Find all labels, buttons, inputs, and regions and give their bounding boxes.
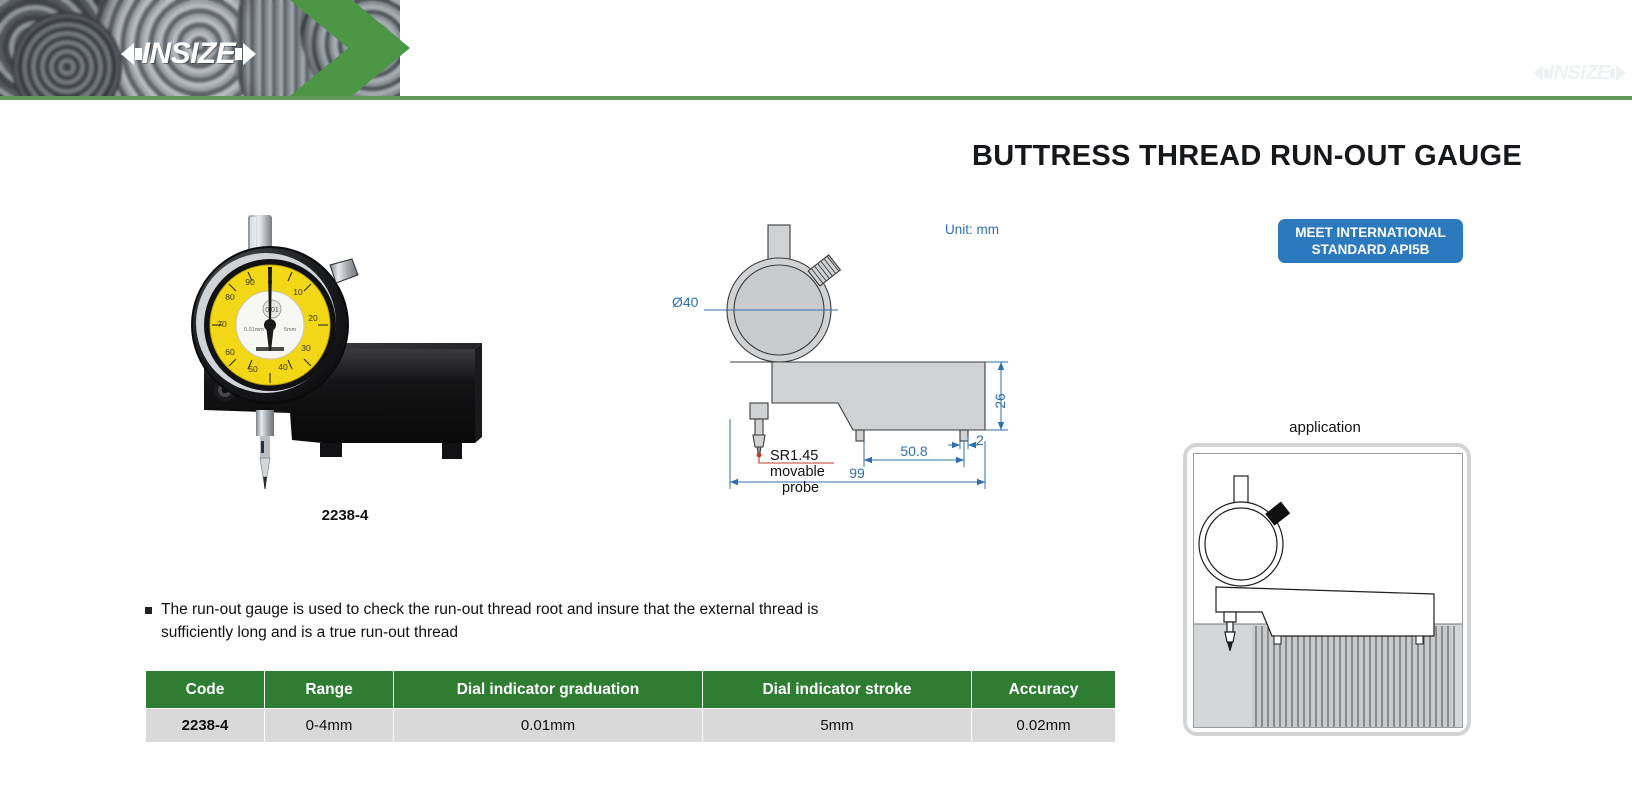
svg-text:40: 40 bbox=[278, 362, 288, 372]
svg-text:30: 30 bbox=[301, 343, 311, 353]
svg-text:60: 60 bbox=[225, 347, 235, 357]
arrow-left-icon-watermark bbox=[1533, 65, 1543, 81]
svg-text:10: 10 bbox=[293, 287, 303, 297]
dim-height: 26 bbox=[992, 393, 1008, 409]
standard-badge: MEET INTERNATIONAL STANDARD API5B bbox=[1278, 219, 1463, 263]
product-photo: 01020 304050 607080 90 0.01 0.01mm 5mm bbox=[180, 205, 510, 505]
bullet-square-icon bbox=[145, 607, 152, 614]
probe-note-line-3: probe bbox=[782, 480, 819, 496]
table-row: 2238-4 0-4mm 0.01mm 5mm 0.02mm bbox=[146, 709, 1116, 743]
svg-text:80: 80 bbox=[225, 292, 235, 302]
list-item: The run-out gauge is used to check the r… bbox=[145, 598, 865, 644]
column-header-stroke: Dial indicator stroke bbox=[703, 671, 972, 709]
dim-foot: 2 bbox=[976, 432, 984, 448]
table-header-row: Code Range Dial indicator graduation Dia… bbox=[146, 671, 1116, 709]
logo-bar-left bbox=[135, 48, 142, 60]
badge-line-2: STANDARD API5B bbox=[1295, 241, 1446, 258]
svg-text:70: 70 bbox=[217, 319, 227, 329]
product-code-label: 2238-4 bbox=[180, 507, 510, 524]
column-header-code: Code bbox=[146, 671, 265, 709]
application-label: application bbox=[1185, 419, 1465, 436]
dim-span: 50.8 bbox=[900, 443, 927, 459]
svg-text:5mm: 5mm bbox=[284, 327, 297, 333]
svg-text:50: 50 bbox=[248, 364, 258, 374]
column-header-graduation: Dial indicator graduation bbox=[394, 671, 703, 709]
green-divider-rule bbox=[0, 96, 1632, 100]
probe-note-line-2: movable bbox=[770, 464, 825, 480]
probe-note-radius: SR1.45 bbox=[770, 448, 818, 464]
insize-logo-watermark: INSIZE bbox=[1533, 60, 1626, 86]
cell-stroke: 5mm bbox=[703, 709, 972, 743]
technical-drawing: Ø40 26 2 50.8 99 SR1.45 movable probe bbox=[660, 205, 1060, 505]
svg-text:90: 90 bbox=[245, 277, 255, 287]
column-header-accuracy: Accuracy bbox=[972, 671, 1116, 709]
svg-text:20: 20 bbox=[308, 313, 318, 323]
insize-logo: INSIZE bbox=[96, 34, 281, 74]
specification-table: Code Range Dial indicator graduation Dia… bbox=[145, 670, 1116, 743]
dim-length: 99 bbox=[849, 465, 865, 481]
page-title: BUTTRESS THREAD RUN-OUT GAUGE bbox=[972, 140, 1522, 173]
description-list: The run-out gauge is used to check the r… bbox=[145, 598, 865, 644]
arrow-right-icon-watermark bbox=[1616, 65, 1626, 81]
arrow-left-icon bbox=[121, 43, 134, 65]
insize-watermark-text: INSIZE bbox=[1549, 62, 1610, 85]
cell-graduation: 0.01mm bbox=[394, 709, 703, 743]
arrow-right-icon bbox=[243, 43, 256, 65]
svg-text:0.01mm: 0.01mm bbox=[244, 327, 264, 333]
svg-text:0.01: 0.01 bbox=[265, 307, 279, 314]
logo-bar-right bbox=[235, 48, 242, 60]
insize-logo-text: INSIZE bbox=[142, 37, 236, 71]
header-banner: INSIZE INSIZE bbox=[0, 0, 1632, 100]
column-header-range: Range bbox=[265, 671, 394, 709]
description-text: The run-out gauge is used to check the r… bbox=[161, 598, 865, 644]
badge-line-1: MEET INTERNATIONAL bbox=[1295, 224, 1446, 241]
application-illustration bbox=[1193, 453, 1463, 728]
dim-diameter: Ø40 bbox=[672, 294, 699, 310]
logo-bar-right-watermark bbox=[1610, 69, 1615, 78]
cell-accuracy: 0.02mm bbox=[972, 709, 1116, 743]
cell-range: 0-4mm bbox=[265, 709, 394, 743]
application-illustration-frame bbox=[1183, 443, 1471, 736]
cell-code: 2238-4 bbox=[146, 709, 265, 743]
